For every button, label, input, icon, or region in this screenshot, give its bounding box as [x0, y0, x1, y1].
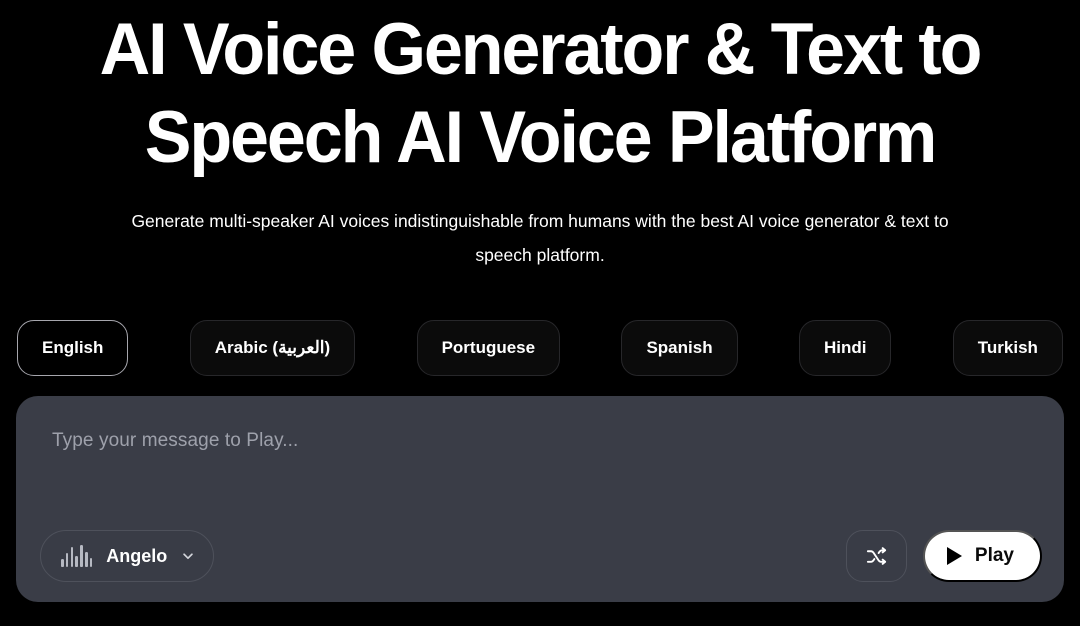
composer-toolbar: Angelo Play	[40, 530, 1042, 582]
language-pill-turkish[interactable]: Turkish	[953, 320, 1063, 376]
language-selector: English Arabic (العربية) Portuguese Span…	[17, 320, 1063, 376]
page-title-line-2: Speech AI Voice Platform	[22, 94, 1059, 182]
language-pill-portuguese[interactable]: Portuguese	[417, 320, 561, 376]
language-pill-spanish[interactable]: Spanish	[621, 320, 737, 376]
language-pill-label: English	[42, 338, 103, 358]
play-button[interactable]: Play	[923, 530, 1042, 582]
play-button-label: Play	[975, 545, 1014, 567]
composer-panel: Type your message to Play... Angelo	[16, 396, 1064, 602]
composer-actions: Play	[846, 530, 1042, 582]
language-pill-label: Spanish	[646, 338, 712, 358]
message-input[interactable]: Type your message to Play...	[52, 430, 298, 452]
page-title-line-1: AI Voice Generator & Text to	[22, 6, 1059, 94]
voice-select[interactable]: Angelo	[40, 530, 214, 582]
play-triangle-icon	[947, 547, 962, 565]
language-pill-label: Arabic (العربية)	[215, 338, 330, 358]
language-pill-label: Portuguese	[442, 338, 536, 358]
voice-select-label: Angelo	[106, 546, 167, 567]
language-pill-label: Hindi	[824, 338, 867, 358]
page-subtitle-line-1: Generate multi-speaker AI voices indisti…	[131, 211, 754, 231]
shuffle-icon	[865, 545, 888, 568]
page-title: AI Voice Generator & Text to Speech AI V…	[22, 0, 1059, 182]
language-pill-arabic[interactable]: Arabic (العربية)	[190, 320, 355, 376]
waveform-icon	[61, 545, 92, 567]
page-subtitle: Generate multi-speaker AI voices indisti…	[130, 204, 950, 272]
language-pill-english[interactable]: English	[17, 320, 128, 376]
language-pill-label: Turkish	[978, 338, 1038, 358]
shuffle-button[interactable]	[846, 530, 907, 582]
chevron-down-icon	[181, 549, 195, 563]
language-pill-hindi[interactable]: Hindi	[799, 320, 892, 376]
